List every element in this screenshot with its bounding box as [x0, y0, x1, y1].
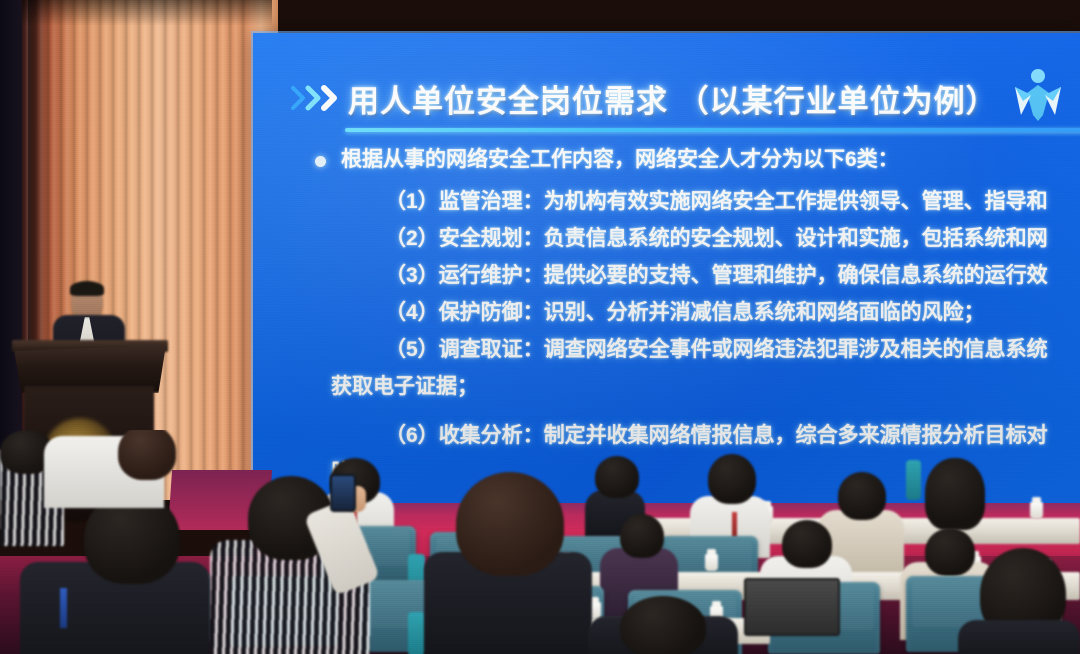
attendee-head: [925, 528, 975, 576]
list-item-text: 负责信息系统的安全规划、设计和实施，包括系统和网: [544, 227, 1048, 250]
list-item-number: （1）: [385, 190, 439, 213]
list-item-text: 为机构有效实施网络安全工作提供领导、管理、指导和: [544, 190, 1048, 213]
lanyard: [60, 588, 67, 628]
laptop[interactable]: [744, 578, 840, 636]
list-item-number: （4）: [385, 301, 439, 324]
list-item: （3）运行维护：提供必要的支持、管理和维护，确保信息系统的运行效: [253, 257, 1080, 294]
list-item: （2）安全规划：负责信息系统的安全规划、设计和实施，包括系统和网: [253, 220, 1080, 257]
slide-title: 用人单位安全岗位需求 （以某行业单位为例）: [348, 76, 998, 121]
attendee-head: [118, 430, 176, 480]
bullet-dot-icon: [315, 156, 326, 167]
list-item-text: 识别、分析并消减信息系统和网络面临的风险；: [544, 301, 985, 324]
audience-area: [0, 430, 1080, 654]
attendee-head: [708, 454, 756, 504]
list-item-label: 调查取证：: [439, 338, 544, 361]
water-bottle: [906, 460, 921, 500]
attendee-head: [595, 456, 639, 498]
list-item-continuation: 获取电子证据；: [253, 368, 1080, 405]
attendee-head: [838, 472, 886, 520]
list-item-label: 保护防御：: [439, 301, 544, 324]
conference-photo: 用人单位安全岗位需求 （以某行业单位为例） 根据从事的网络安全工作内容，网络安全…: [0, 0, 1080, 654]
attendee-torso: [958, 620, 1080, 654]
person-arms-raised-logo-icon: [1009, 65, 1067, 125]
list-item: （1）监管治理：为机构有效实施网络安全工作提供领导、管理、指导和: [253, 183, 1080, 220]
title-underline: [345, 128, 1080, 132]
attendee-head: [782, 520, 832, 568]
water-bottle: [408, 612, 425, 654]
attendee-head: [456, 472, 564, 576]
tea-cup: [1030, 502, 1043, 519]
curtain-top-shadow: [22, 0, 272, 26]
list-item-label: 安全规划：: [439, 227, 544, 250]
attendee-head: [620, 596, 706, 654]
list-item-number: （5）: [385, 338, 439, 361]
list-item-number: （3）: [385, 264, 439, 287]
list-item-label: 运行维护：: [439, 264, 544, 287]
speaker-hair: [70, 281, 104, 296]
list-item: （5）调查取证：调查网络安全事件或网络违法犯罪涉及相关的信息系统: [253, 331, 1080, 368]
slide-header: 用人单位安全岗位需求 （以某行业单位为例）: [253, 57, 1080, 115]
list-item-text: 调查网络安全事件或网络违法犯罪涉及相关的信息系统: [544, 338, 1048, 361]
lanyard: [732, 512, 737, 538]
lead-text: 根据从事的网络安全工作内容，网络安全人才分为以下6类：: [341, 143, 1080, 177]
smartphone-recording[interactable]: [330, 474, 356, 512]
tea-cup: [705, 554, 718, 571]
attendee-head: [620, 514, 664, 558]
attendee-head: [925, 458, 985, 530]
list-item-text: 提供必要的支持、管理和维护，确保信息系统的运行效: [544, 264, 1048, 287]
lead-bullet-row: 根据从事的网络安全工作内容，网络安全人才分为以下6类：: [253, 143, 1080, 177]
list-item: （4）保护防御：识别、分析并消减信息系统和网络面临的风险；: [253, 294, 1080, 331]
list-item-label: 监管治理：: [439, 190, 544, 213]
double-chevron-right-icon: [291, 85, 345, 111]
list-item-number: （2）: [385, 227, 439, 250]
